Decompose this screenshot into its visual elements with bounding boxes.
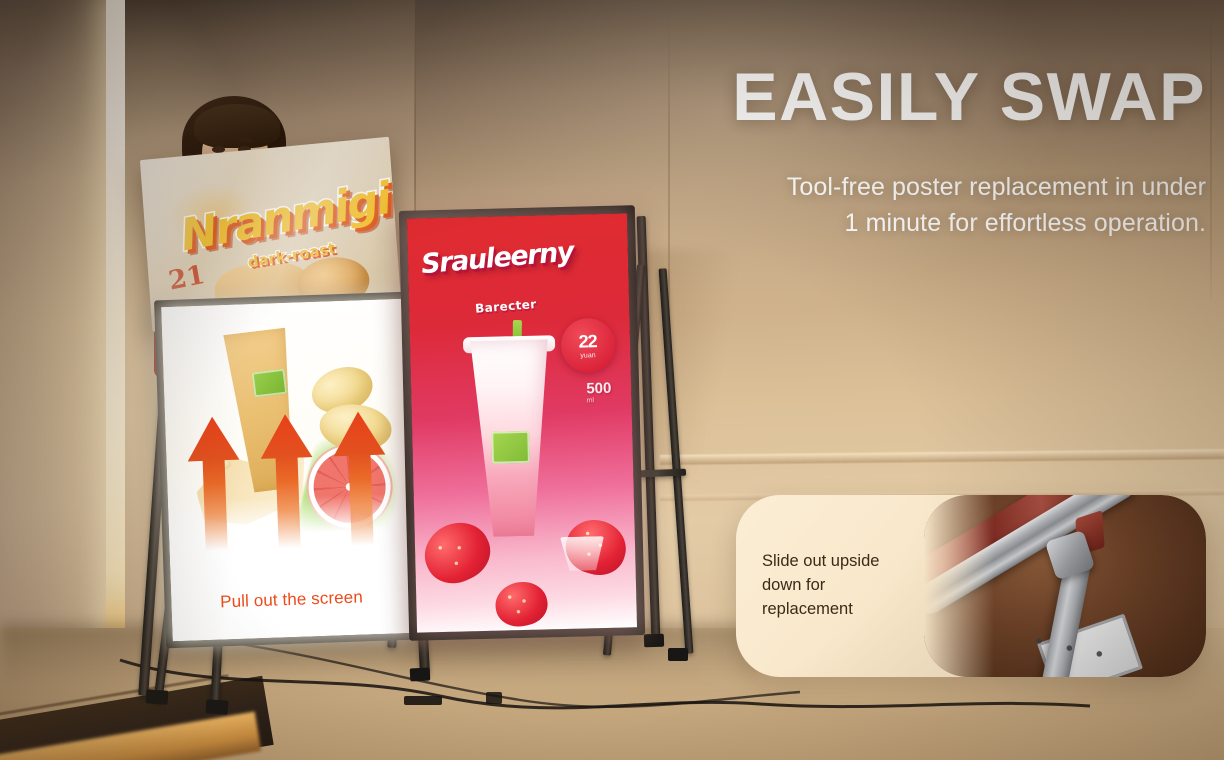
price-value: 22 — [578, 331, 597, 352]
price-unit: yuan — [580, 352, 595, 359]
art-strawberry — [492, 578, 550, 630]
easel-foot — [206, 699, 229, 715]
callout-card: Slide out upside down for replacement — [736, 495, 1206, 677]
callout-line-3: replacement — [762, 598, 926, 622]
art-strawberry — [415, 513, 499, 594]
lightbox-screen: Pull out the screen — [161, 299, 413, 641]
callout-line-1: Slide out upside — [762, 550, 926, 574]
easel-foot — [146, 689, 169, 705]
easel-foot — [644, 634, 664, 648]
subtitle-line-2: 1 minute for effortless operation. — [590, 206, 1206, 242]
volume-label: 500 ml — [586, 379, 612, 404]
banner-stage: Nranmigi dark-roast 21 — [0, 0, 1224, 760]
easel-foot — [668, 648, 688, 661]
callout-text: Slide out upside down for replacement — [736, 550, 926, 622]
volume-value: 500 — [586, 379, 611, 397]
strawberry-poster-title: Srauleerny — [420, 233, 616, 280]
art-cup-label — [251, 368, 287, 397]
snap-frame-photo — [924, 495, 1206, 677]
easel-foot — [410, 667, 431, 681]
price-badge: 22 yuan — [560, 317, 615, 372]
art-cup-label — [491, 431, 530, 464]
subtitle-line-1: Tool-free poster replacement in under — [590, 170, 1206, 206]
lightbox-right[interactable]: Srauleerny Barecter 22 yuan 500 ml — [399, 205, 645, 641]
volume-unit: ml — [587, 396, 612, 404]
page-title: EASILY SWAP — [640, 62, 1206, 133]
callout-line-2: down for — [762, 574, 926, 598]
lightbox-left[interactable]: Pull out the screen — [154, 292, 420, 649]
person-fringe — [194, 104, 280, 148]
photo-edge-fade — [924, 495, 994, 677]
wall-seam — [1210, 0, 1212, 300]
screen-white-area — [168, 493, 413, 642]
art-droplet — [219, 459, 230, 469]
frame-rivets — [1025, 597, 1154, 677]
page-subtitle: Tool-free poster replacement in under 1 … — [590, 170, 1206, 241]
lightbox-screen: Srauleerny Barecter 22 yuan 500 ml — [407, 213, 637, 632]
strawberry-poster-subtitle: Barecter — [475, 297, 537, 316]
art-droplet — [204, 439, 220, 454]
